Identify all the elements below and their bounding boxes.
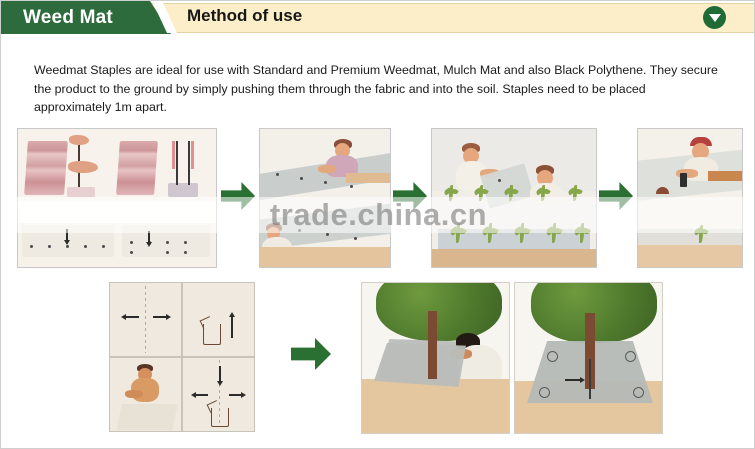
- intro-paragraph: Weedmat Staples are ideal for use with S…: [34, 61, 724, 117]
- product-description-page: Weed Mat Method of use Weedmat Staples a…: [0, 0, 755, 449]
- staples-product-figure: [17, 128, 217, 268]
- brand-tab: Weed Mat: [1, 1, 171, 34]
- chevron-down-circle-icon[interactable]: [703, 6, 726, 29]
- flow-arrow-3: [599, 182, 633, 210]
- method-steps-row-bottom: [1, 282, 755, 440]
- staple-technique-grid-figure: [109, 282, 255, 432]
- page-title: Method of use: [187, 6, 302, 26]
- flow-arrow-1: [221, 182, 255, 210]
- flow-arrow-2: [393, 182, 427, 210]
- chevron-down-glyph: [709, 14, 721, 22]
- brand-label: Weed Mat: [23, 7, 113, 29]
- method-steps-row-top: [1, 128, 755, 271]
- pushing-staple-figure: [637, 128, 743, 268]
- laying-fabric-figure: [259, 128, 391, 268]
- page-header: Weed Mat Method of use: [1, 1, 755, 34]
- tree-mulch-mat-figure: [361, 282, 663, 434]
- flow-arrow-4: [291, 338, 331, 370]
- planting-through-mat-figure: [431, 128, 597, 268]
